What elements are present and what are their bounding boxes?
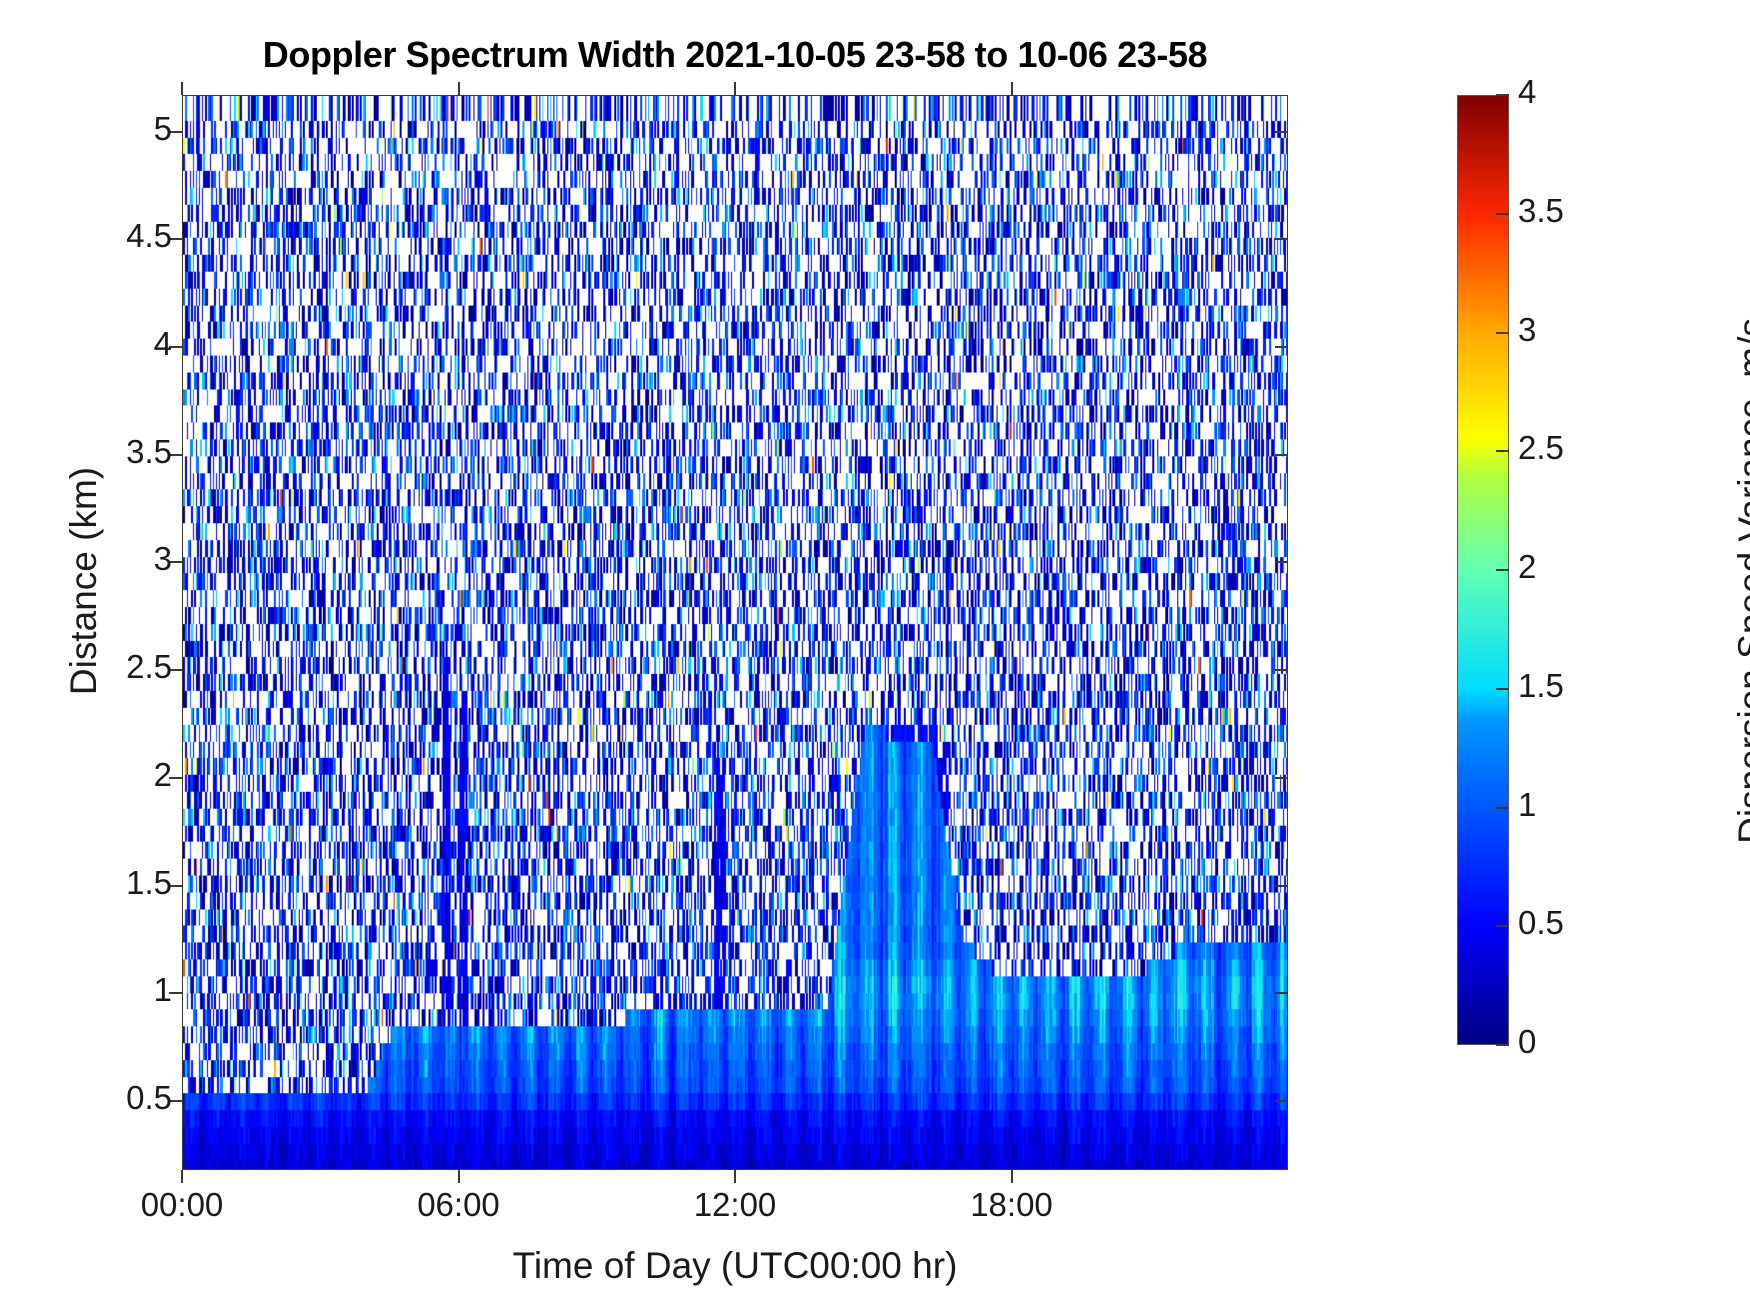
y-tick-mark-right — [1275, 669, 1288, 671]
y-tick-label: 1.5 — [52, 864, 172, 902]
heatmap-canvas — [183, 96, 1287, 1169]
y-tick-label: 5 — [52, 110, 172, 148]
x-tick-mark-top — [734, 82, 736, 95]
colorbar-tick-label: 4 — [1518, 73, 1536, 111]
colorbar-tick-label: 0.5 — [1518, 904, 1564, 942]
y-tick-mark-right — [1275, 238, 1288, 240]
figure-root: Doppler Spectrum Width 2021-10-05 23-58 … — [0, 0, 1750, 1313]
y-tick-label: 1 — [52, 971, 172, 1009]
colorbar-label: Dispersion Speed Variance, m/s — [1731, 301, 1750, 861]
colorbar-tick-mark — [1496, 569, 1509, 571]
heatmap-plot-area — [182, 95, 1288, 1170]
colorbar-tick-mark — [1496, 1044, 1509, 1046]
y-tick-mark-right — [1275, 777, 1288, 779]
colorbar-tick-mark — [1496, 450, 1509, 452]
x-tick-mark-top — [1011, 82, 1013, 95]
x-tick-label: 06:00 — [359, 1186, 559, 1224]
colorbar-tick-mark — [1496, 688, 1509, 690]
colorbar-tick-mark — [1496, 94, 1509, 96]
x-tick-mark — [181, 1170, 183, 1183]
colorbar-tick-mark — [1496, 332, 1509, 334]
y-tick-mark-right — [1275, 561, 1288, 563]
y-tick-mark-right — [1275, 1100, 1288, 1102]
y-tick-label: 4.5 — [52, 217, 172, 255]
colorbar-tick-label: 2 — [1518, 548, 1536, 586]
y-tick-label: 4 — [52, 325, 172, 363]
x-tick-mark-top — [181, 82, 183, 95]
x-tick-mark — [734, 1170, 736, 1183]
colorbar-tick-mark — [1496, 213, 1509, 215]
y-tick-mark-right — [1275, 454, 1288, 456]
colorbar-tick-mark — [1496, 807, 1509, 809]
y-tick-mark-right — [1275, 885, 1288, 887]
y-tick-mark-right — [1275, 346, 1288, 348]
colorbar-tick-label: 1 — [1518, 786, 1536, 824]
colorbar-tick-label: 3.5 — [1518, 192, 1564, 230]
colorbar-tick-label: 0 — [1518, 1023, 1536, 1061]
colorbar-tick-label: 2.5 — [1518, 429, 1564, 467]
x-axis-label: Time of Day (UTC00:00 hr) — [182, 1245, 1288, 1287]
y-tick-mark-right — [1275, 992, 1288, 994]
chart-title: Doppler Spectrum Width 2021-10-05 23-58 … — [182, 34, 1288, 76]
x-tick-mark-top — [458, 82, 460, 95]
colorbar-tick-mark — [1496, 925, 1509, 927]
x-tick-mark — [1011, 1170, 1013, 1183]
x-tick-label: 18:00 — [912, 1186, 1112, 1224]
x-tick-label: 00:00 — [82, 1186, 282, 1224]
colorbar-tick-label: 1.5 — [1518, 667, 1564, 705]
y-axis-label: Distance (km) — [63, 371, 105, 791]
colorbar-tick-label: 3 — [1518, 311, 1536, 349]
x-tick-mark — [458, 1170, 460, 1183]
y-tick-mark-right — [1275, 131, 1288, 133]
y-tick-label: 0.5 — [52, 1079, 172, 1117]
x-tick-label: 12:00 — [635, 1186, 835, 1224]
